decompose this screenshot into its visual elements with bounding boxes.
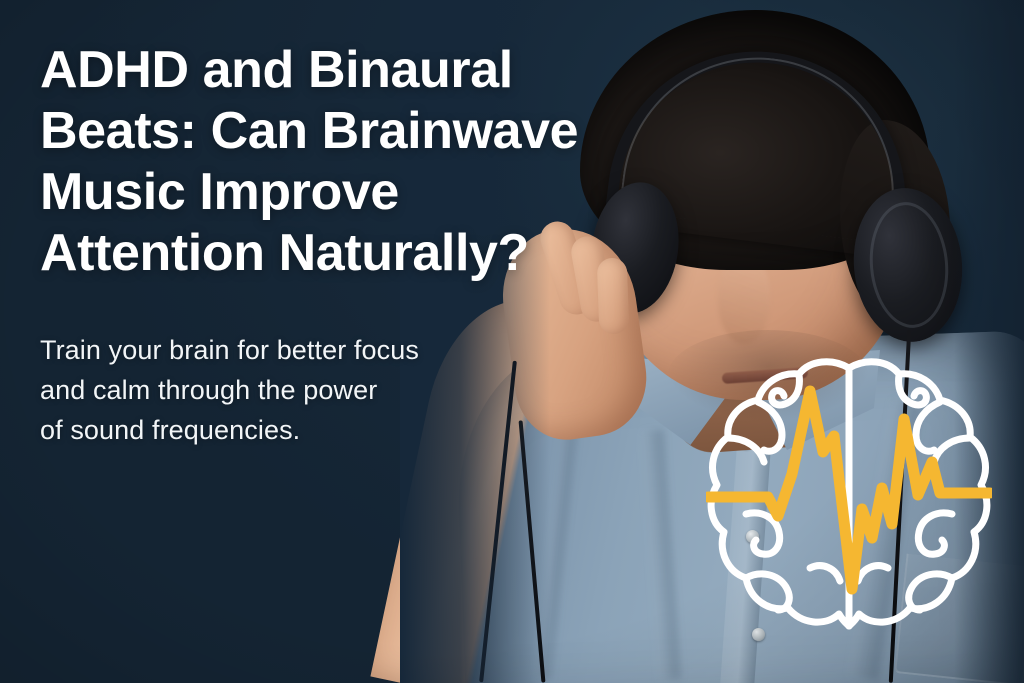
headline-line-4: Attention Naturally? [40,223,640,284]
headline-line-3: Music Improve [40,162,640,223]
brain-waveform-graphic [706,356,992,646]
brain-outline-icon [706,356,992,646]
text-block: ADHD and Binaural Beats: Can Brainwave M… [40,40,640,450]
subhead-line-1: Train your brain for better focus [40,330,640,370]
headline-line-1: ADHD and Binaural [40,40,640,101]
page-subtitle: Train your brain for better focus and ca… [40,284,640,450]
subhead-line-3: of sound frequencies. [40,410,640,450]
page-title: ADHD and Binaural Beats: Can Brainwave M… [40,40,640,284]
headline-line-2: Beats: Can Brainwave [40,101,640,162]
banner-root: ADHD and Binaural Beats: Can Brainwave M… [0,0,1024,683]
subhead-line-2: and calm through the power [40,370,640,410]
